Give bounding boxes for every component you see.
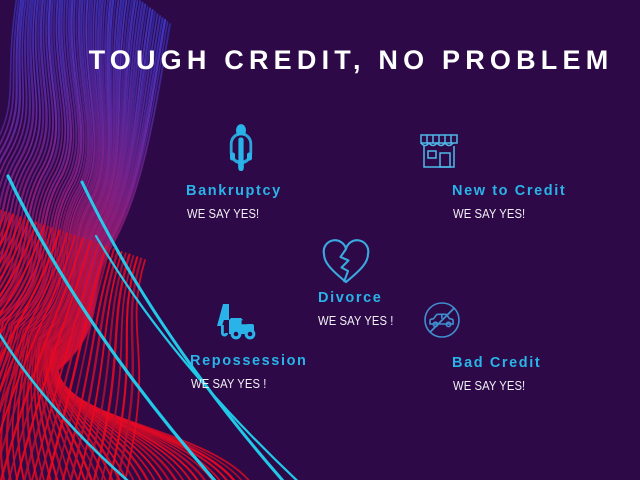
feature-subtitle: WE SAY YES!	[187, 208, 259, 221]
no-car-icon	[416, 294, 468, 346]
storefront-icon	[413, 125, 465, 177]
feature-subtitle: WE SAY YES !	[191, 378, 266, 391]
feature-title: Divorce	[318, 291, 382, 306]
feature-subtitle: WE SAY YES!	[453, 208, 525, 221]
poster-canvas: TOUGH CREDIT, NO PROBLEM Bankruptcy WE S…	[0, 0, 640, 480]
person-icon	[215, 122, 267, 174]
feature-title: New to Credit	[452, 184, 566, 199]
feature-title: Repossession	[190, 354, 308, 369]
feature-subtitle: WE SAY YES!	[453, 380, 525, 393]
page-title: TOUGH CREDIT, NO PROBLEM	[0, 47, 640, 74]
feature-subtitle: WE SAY YES !	[318, 315, 393, 328]
broken-heart-icon	[320, 237, 372, 289]
feature-title: Bankruptcy	[186, 184, 282, 199]
tow-truck-icon	[209, 296, 261, 348]
feature-title: Bad Credit	[452, 356, 541, 371]
